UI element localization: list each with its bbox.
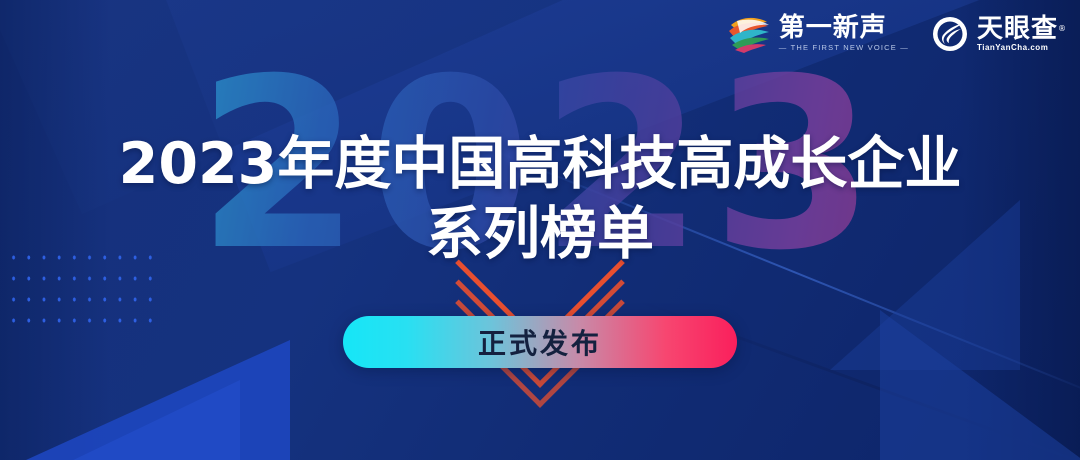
logo-tianyancha-cn: 天眼查® [977, 16, 1058, 43]
logo-tianyancha-text: 天眼查® TianYanCha.com [977, 16, 1058, 53]
logo-diyixinsheng-cn: 第一新声 [779, 15, 909, 42]
background-facet-bottom-left [0, 340, 290, 460]
logo-diyixinsheng-tagline: — THE FIRST NEW VOICE — [779, 43, 909, 53]
release-status-pill[interactable]: 正式发布 [343, 316, 737, 368]
camera-aperture-eye-icon [931, 15, 969, 53]
background-facet-bottom-right [880, 310, 1080, 460]
headline-line-2: 系列榜单 [0, 203, 1080, 265]
logo-group: 第一新声 — THE FIRST NEW VOICE — 天眼查® TianYa… [727, 14, 1058, 54]
ribbon-swoosh-icon [727, 14, 771, 54]
logo-tianyancha-domain: TianYanCha.com [977, 43, 1058, 53]
registered-trademark-icon: ® [1058, 15, 1067, 42]
banner-headline: 2023年度中国高科技高成长企业 系列榜单 [0, 133, 1080, 265]
logo-diyixinsheng[interactable]: 第一新声 — THE FIRST NEW VOICE — [727, 14, 909, 54]
logo-tianyancha[interactable]: 天眼查® TianYanCha.com [931, 15, 1058, 53]
promo-banner: 2023 2023年度中国高科技高成长企业 系列榜单 正式发布 第一新声 [0, 0, 1080, 460]
background-facet-bottom-left-inner [0, 380, 240, 460]
logo-diyixinsheng-text: 第一新声 — THE FIRST NEW VOICE — [779, 15, 909, 53]
logo-tianyancha-cn-label: 天眼查 [977, 14, 1058, 44]
release-status-label: 正式发布 [478, 322, 602, 362]
headline-line-1: 2023年度中国高科技高成长企业 [0, 133, 1080, 195]
